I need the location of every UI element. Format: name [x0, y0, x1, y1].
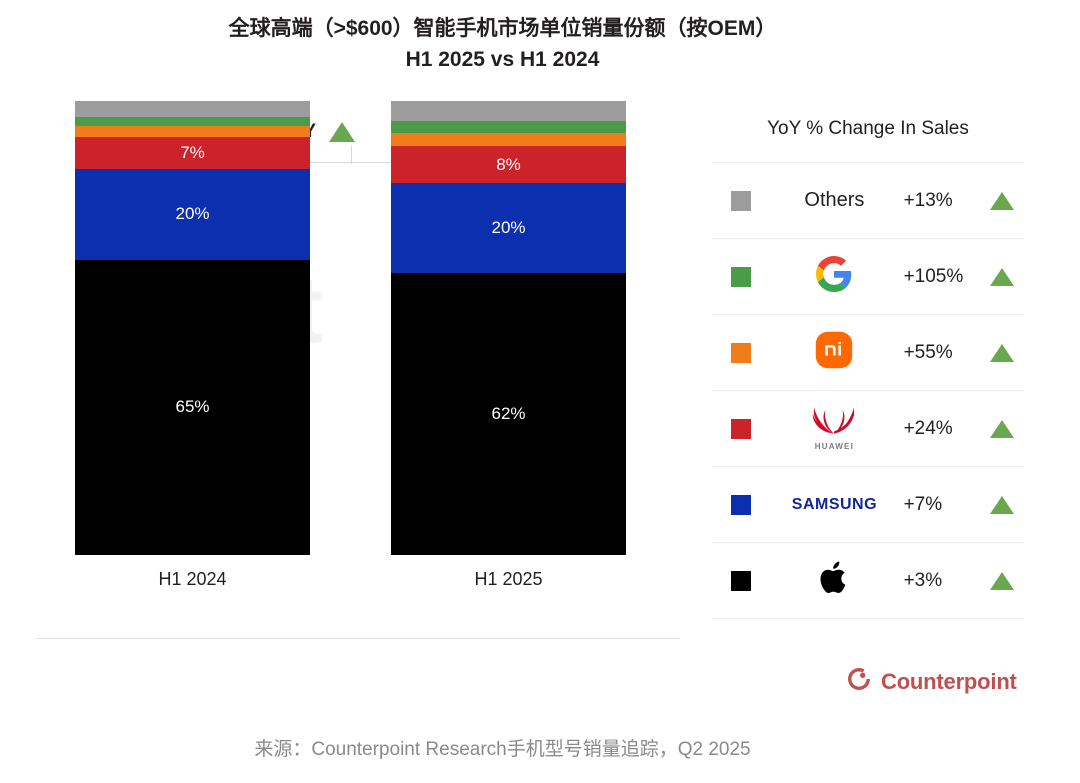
color-swatch-others [731, 191, 751, 211]
arrow-cell [981, 192, 1024, 210]
triangle-up-icon [990, 192, 1014, 210]
bar-segment-label: 8% [496, 155, 521, 175]
axis-baseline [35, 638, 680, 639]
color-swatch-huawei [731, 419, 751, 439]
swatch-cell [712, 343, 769, 363]
brand-cell-huawei: HUAWEI [769, 406, 899, 451]
swatch-cell [712, 571, 769, 591]
arrow-cell [981, 268, 1024, 286]
counterpoint-mark-icon [846, 666, 872, 697]
color-swatch-apple [731, 571, 751, 591]
legend-row-others[interactable]: Others +13% [712, 162, 1024, 238]
change-value-others: +13% [900, 190, 981, 212]
bar-segment-label: 20% [175, 204, 209, 224]
bar-segment-apple[interactable]: 62% [391, 273, 626, 554]
bar-column-h1-2024[interactable]: 7% 20% 65% H1 2024 [75, 101, 310, 555]
bar-segment-label: 20% [491, 218, 525, 238]
stacked-bar: 8% 20% 62% [391, 101, 626, 555]
bar-segment-samsung[interactable]: 20% [75, 169, 310, 260]
color-swatch-google [731, 267, 751, 287]
change-value-apple: +3% [900, 570, 981, 592]
brand-cell-apple [769, 559, 899, 602]
legend-row-huawei[interactable]: HUAWEI +24% [712, 390, 1024, 466]
change-value-samsung: +7% [900, 494, 981, 516]
triangle-up-icon [990, 420, 1014, 438]
color-swatch-samsung [731, 495, 751, 515]
arrow-cell [981, 420, 1024, 438]
brand-cell-others: Others [769, 189, 899, 212]
arrow-cell [981, 572, 1024, 590]
category-label-h1-2025: H1 2025 [391, 569, 626, 590]
bar-segment-huawei[interactable]: 7% [75, 137, 310, 169]
triangle-up-icon [990, 496, 1014, 514]
triangle-up-icon [990, 572, 1014, 590]
bar-segment-label: 62% [491, 404, 525, 424]
bar-segment-google[interactable] [391, 121, 626, 132]
legend-row-xiaomi[interactable]: +55% [712, 314, 1024, 390]
triangle-up-icon [329, 122, 355, 142]
bar-segment-samsung[interactable]: 20% [391, 183, 626, 274]
bar-segment-label: 7% [180, 143, 205, 163]
google-logo-icon [816, 256, 852, 297]
xiaomi-logo-icon [815, 331, 853, 374]
brand-cell-samsung: SAMSUNG [769, 496, 899, 514]
bar-segment-xiaomi[interactable] [75, 126, 310, 137]
bar-segment-others[interactable] [391, 101, 626, 121]
apple-logo-icon [818, 559, 850, 602]
color-swatch-xiaomi [731, 343, 751, 363]
bar-segment-huawei[interactable]: 8% [391, 146, 626, 182]
bar-segment-xiaomi[interactable] [391, 133, 626, 147]
bar-column-h1-2025[interactable]: 8% 20% 62% H1 2025 [391, 101, 626, 555]
change-value-google: +105% [900, 266, 981, 288]
arrow-cell [981, 496, 1024, 514]
legend-title: YoY % Change In Sales [712, 118, 1024, 162]
huawei-wordmark: HUAWEI [815, 442, 854, 451]
counterpoint-logo: Counterpoint [846, 666, 1017, 697]
bar-segment-others[interactable] [75, 101, 310, 117]
bar-segment-google[interactable] [75, 117, 310, 126]
legend-row-samsung[interactable]: SAMSUNG +7% [712, 466, 1024, 542]
category-label-h1-2024: H1 2024 [75, 569, 310, 590]
huawei-logo-icon [801, 406, 867, 441]
bar-segment-label: 65% [175, 397, 209, 417]
stacked-bar: 7% 20% 65% [75, 101, 310, 555]
chart-plot-area: unt +8% YoY 7% 20% 65% [0, 0, 700, 700]
legend-panel: YoY % Change In Sales Others +13% [712, 118, 1024, 619]
change-value-huawei: +24% [900, 418, 981, 440]
swatch-cell [712, 191, 769, 211]
samsung-wordmark-icon: SAMSUNG [792, 496, 877, 514]
swatch-cell [712, 495, 769, 515]
change-value-xiaomi: +55% [900, 342, 981, 364]
swatch-cell [712, 419, 769, 439]
bar-segment-apple[interactable]: 65% [75, 260, 310, 555]
triangle-up-icon [990, 344, 1014, 362]
triangle-up-icon [990, 268, 1014, 286]
arrow-cell [981, 344, 1024, 362]
brand-cell-xiaomi [769, 331, 899, 374]
brand-cell-google [769, 256, 899, 297]
brand-label-others: Others [804, 189, 864, 212]
counterpoint-wordmark: Counterpoint [881, 669, 1017, 695]
legend-row-apple[interactable]: +3% [712, 542, 1024, 619]
swatch-cell [712, 267, 769, 287]
source-note: 来源：Counterpoint Research手机型号销量追踪，Q2 2025 [0, 734, 1005, 761]
legend-row-google[interactable]: +105% [712, 238, 1024, 314]
